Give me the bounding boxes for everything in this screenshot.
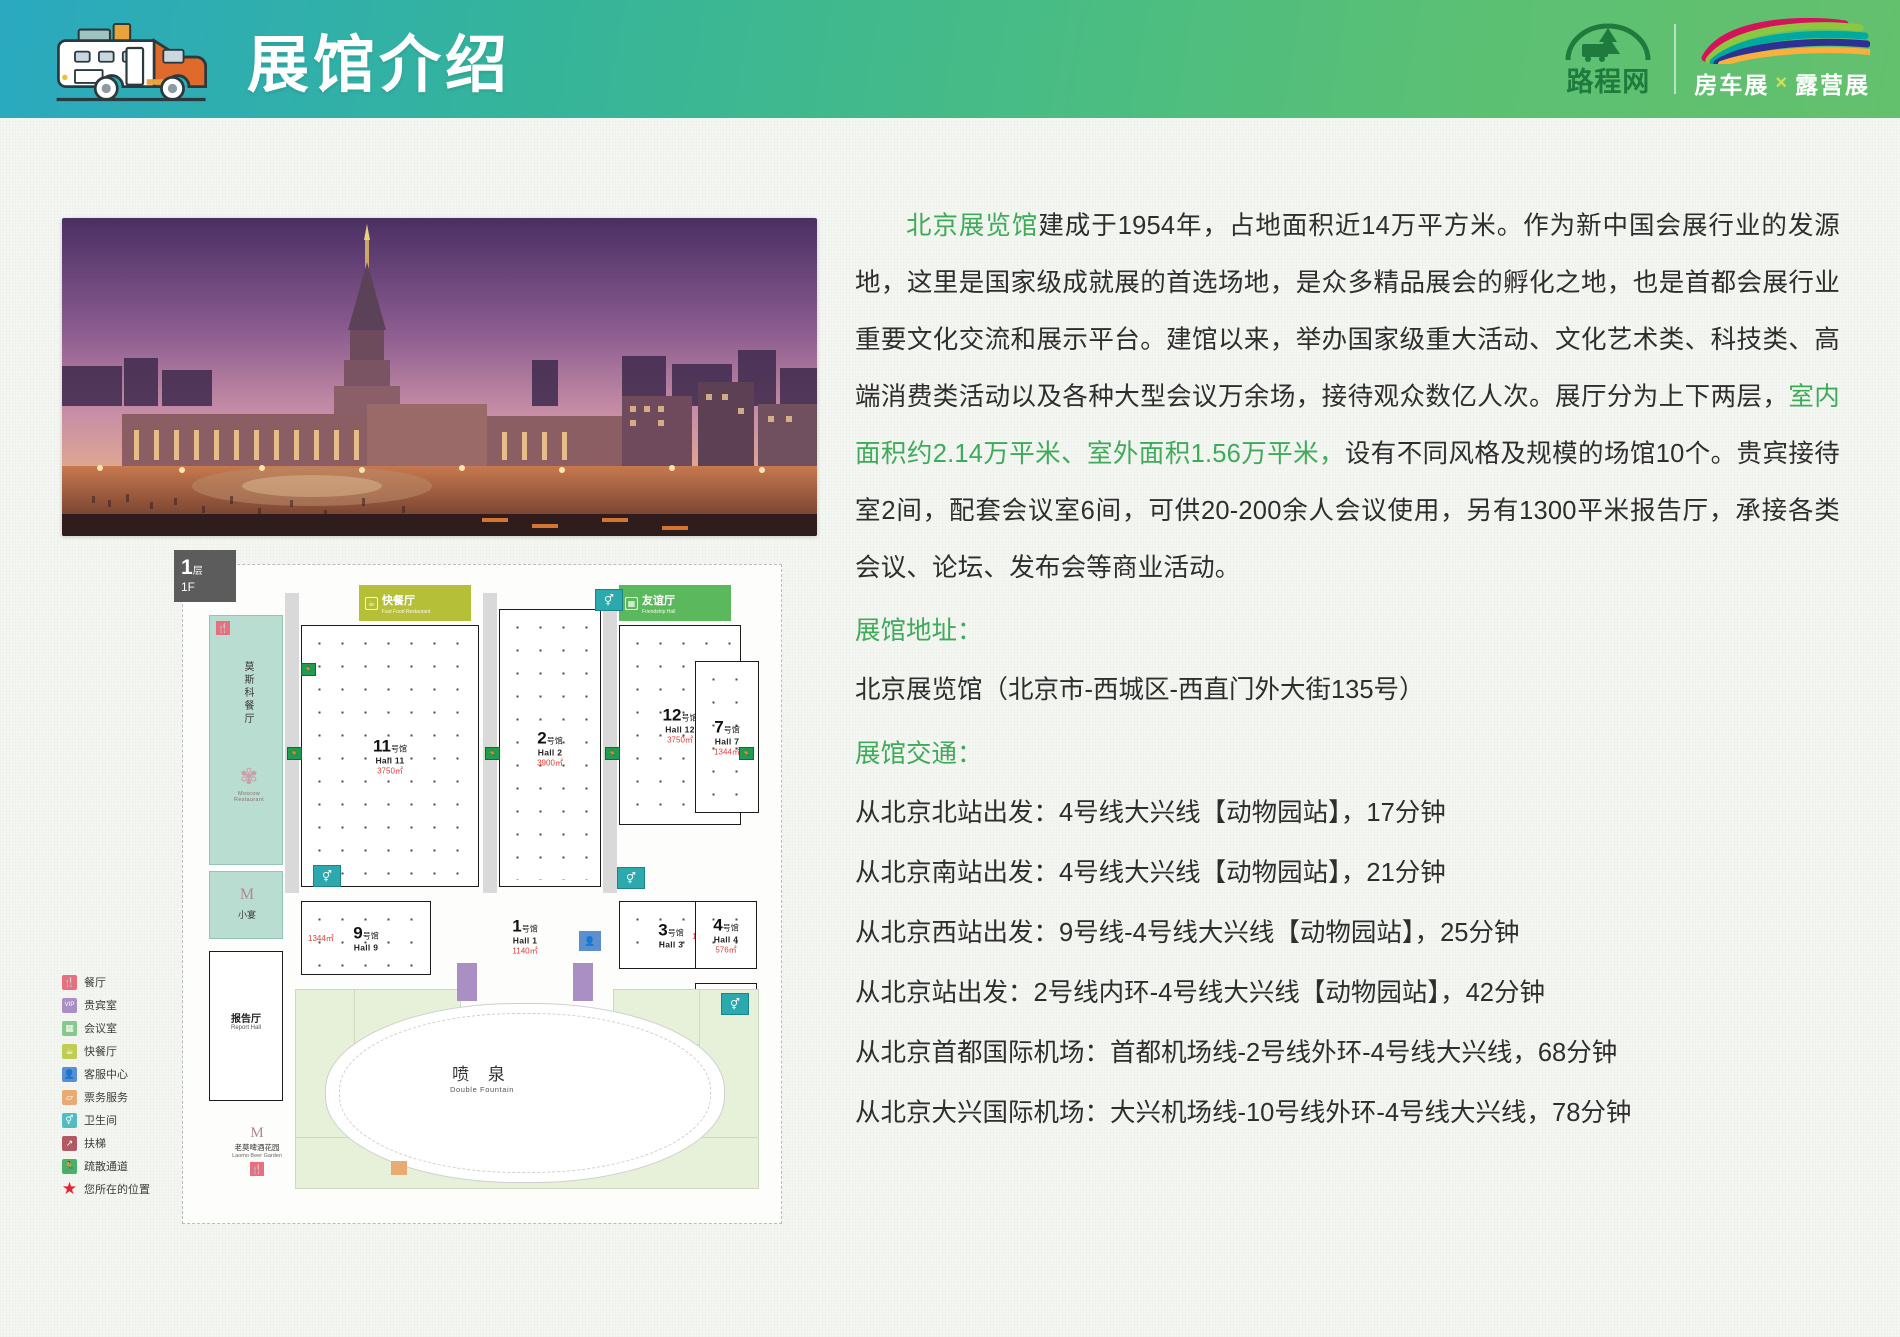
hall-12-num: 12 xyxy=(663,705,682,724)
hall-4-en: Hall 4 xyxy=(696,935,756,945)
legend-label: 贵宾室 xyxy=(84,997,117,1013)
transport-route: 从北京北站出发：4号线大兴线【动物园站】，17分钟 xyxy=(855,783,1840,843)
moscow-restaurant-label-cn: 莫斯科餐厅 xyxy=(240,661,255,726)
legend-label: 客服中心 xyxy=(84,1066,128,1082)
fountain-label-en: Double Fountain xyxy=(183,1085,781,1094)
legend-label: 您所在的位置 xyxy=(84,1181,150,1197)
emergency-exit-icon-3: 🏃 xyxy=(605,747,620,760)
legend-item: ★ 您所在的位置 xyxy=(62,1181,174,1197)
legend-item: 🏃 疏散通道 xyxy=(62,1158,174,1174)
fast-food-icon: ☕ xyxy=(62,1044,77,1059)
expo-label-x: × xyxy=(1775,72,1789,95)
hall-7-en: Hall 7 xyxy=(696,737,758,747)
transport-route: 从北京首都国际机场：首都机场线-2号线外环-4号线大兴线，68分钟 xyxy=(855,1023,1840,1083)
lucheng-logo-text: 路程网 xyxy=(1566,60,1650,99)
escalator-icon: ↗ xyxy=(62,1136,77,1151)
restroom-icon-3: ⚥ xyxy=(617,867,645,889)
corridor-right xyxy=(603,593,617,893)
you-are-here-star-icon: ★ xyxy=(62,1182,77,1197)
moscow-restaurant-area[interactable]: 🍴 莫斯科餐厅 ✾ Moscow Restaurant xyxy=(209,615,283,865)
hall-1-en: Hall 1 xyxy=(474,936,576,946)
floor-plan-map[interactable]: 1层 1F 🍴 莫斯科餐厅 ✾ Moscow Restaurant M 小宴 xyxy=(62,544,817,1224)
legend-label: 疏散通道 xyxy=(84,1158,128,1174)
hall-4-num: 4 xyxy=(713,915,722,934)
legend-item: ▱ 票务服务 xyxy=(62,1089,174,1105)
fast-food-icon: ☕ xyxy=(365,597,378,610)
page-content: 1层 1F 🍴 莫斯科餐厅 ✾ Moscow Restaurant M 小宴 xyxy=(0,118,1900,1337)
hall-1-area: 1140㎡ xyxy=(474,947,576,956)
hall-9[interactable]: 9号馆 Hall 9 1344㎡ xyxy=(301,901,431,975)
legend-label: 快餐厅 xyxy=(84,1043,117,1059)
hall-9-num: 9 xyxy=(353,923,362,942)
venue-description-part2: 建成于1954年，占地面积近14万平方米。作为新中国会展行业的发源地，这里是国家… xyxy=(855,212,1840,411)
venue-name-highlight: 北京展览馆 xyxy=(906,212,1038,240)
ticket-service-icon-map xyxy=(391,1161,407,1175)
tag-fast-food-en: Fast Food Restaurant xyxy=(382,609,430,615)
restroom-icon: ⚥ xyxy=(62,1113,77,1128)
legend-item: 🍴 餐厅 xyxy=(62,974,174,990)
hall-7[interactable]: 7号馆 Hall 7 1344㎡ xyxy=(695,661,759,813)
address-block: 展馆地址： 北京展览馆（北京市-西城区-西直门外大街135号） xyxy=(855,603,1840,720)
fountain-label-cn: 喷 泉 xyxy=(183,1060,781,1085)
hall-1-label: 1号馆 Hall 1 1140㎡ xyxy=(474,916,576,956)
hall-2-num: 2 xyxy=(537,728,546,747)
map-frame: 🍴 莫斯科餐厅 ✾ Moscow Restaurant M 小宴 xyxy=(182,564,782,1224)
hall-11-label: 11号馆 Hall 11 3750㎡ xyxy=(302,736,478,776)
expo-label-left: 房车展 xyxy=(1694,66,1769,100)
hall-11-area: 3750㎡ xyxy=(302,767,478,776)
floor-badge-en: 1F xyxy=(181,580,236,594)
beer-garden-restaurant-badge: 🍴 xyxy=(250,1162,264,1176)
hall-4-label: 4号馆 Hall 4 576㎡ xyxy=(696,915,756,955)
friendship-hall-icon: ▦ xyxy=(625,597,638,610)
corridor-left xyxy=(285,593,299,893)
tag-fast-food-cn: 快餐厅 xyxy=(382,595,415,607)
restroom-icon-4: ⚥ xyxy=(721,993,749,1015)
transport-route: 从北京站出发：2号线内环-4号线大兴线【动物园站】，42分钟 xyxy=(855,963,1840,1023)
moscow-restaurant-label-en: Moscow Restaurant xyxy=(226,791,272,803)
emergency-exit-icon-2: 🏃 xyxy=(485,747,500,760)
transport-block: 展馆交通： 从北京北站出发：4号线大兴线【动物园站】，17分钟 从北京南站出发：… xyxy=(855,726,1840,1143)
legend-label: 卫生间 xyxy=(84,1112,117,1128)
xiaoyan-room-area[interactable]: M 小宴 xyxy=(209,871,283,939)
hall-1[interactable]: 1号馆 Hall 1 1140㎡ xyxy=(473,895,577,977)
right-column: 北京展览馆建成于1954年，占地面积近14万平方米。作为新中国会展行业的发源地，… xyxy=(855,198,1840,1143)
hall-2-en: Hall 2 xyxy=(500,748,600,758)
ticket-service-icon: ▱ xyxy=(62,1090,77,1105)
transport-route: 从北京大兴国际机场：大兴机场线-10号线外环-4号线大兴线，78分钟 xyxy=(855,1083,1840,1143)
address-value: 北京展览馆（北京市-西城区-西直门外大街135号） xyxy=(855,660,1840,720)
transport-route: 从北京西站出发：9号线-4号线大兴线【动物园站】，25分钟 xyxy=(855,903,1840,963)
tag-friendship-en: Friendship Hall xyxy=(642,609,675,615)
hall-9-suffix: 号馆 xyxy=(363,931,379,940)
hall-9-en: Hall 9 xyxy=(302,943,430,953)
tag-friendship-hall[interactable]: ▦ 友谊厅 Friendship Hall xyxy=(619,585,731,621)
venue-description: 北京展览馆建成于1954年，占地面积近14万平方米。作为新中国会展行业的发源地，… xyxy=(855,198,1840,597)
corridor-mid xyxy=(483,593,497,893)
legend-item: 👤 客服中心 xyxy=(62,1066,174,1082)
legend-label: 扶梯 xyxy=(84,1135,106,1151)
meeting-room-icon: ▦ xyxy=(62,1021,77,1036)
expo-logo: 房车展 × 露营展 xyxy=(1694,18,1870,100)
hall-9-area: 1344㎡ xyxy=(308,933,334,944)
transport-route: 从北京南站出发：4号线大兴线【动物园站】，21分钟 xyxy=(855,843,1840,903)
hall-11-suffix: 号馆 xyxy=(391,744,407,753)
emergency-exit-icon: 🏃 xyxy=(62,1159,77,1174)
legend-label: 会议室 xyxy=(84,1020,117,1036)
map-legend: 🍴 餐厅 VIP 贵宾室 ▦ 会议室 ☕ 快餐厅 👤 客服中心 xyxy=(62,974,174,1204)
customer-service-icon-map: 👤 xyxy=(579,931,601,951)
hall-2[interactable]: 2号馆 Hall 2 3900㎡ xyxy=(499,609,601,887)
expo-logo-text: 房车展 × 露营展 xyxy=(1694,66,1870,100)
legend-item: VIP 贵宾室 xyxy=(62,997,174,1013)
legend-item: ⚥ 卫生间 xyxy=(62,1112,174,1128)
transport-heading: 展馆交通： xyxy=(855,726,1840,783)
escalator-icon-left xyxy=(457,963,477,1001)
hall-11-num: 11 xyxy=(373,736,391,755)
hall-7-num: 7 xyxy=(714,717,723,736)
rv-camper-icon xyxy=(34,13,219,105)
legend-item: ▦ 会议室 xyxy=(62,1020,174,1036)
emergency-exit-icon-1: 🏃 xyxy=(287,747,302,760)
lucheng-logo: 路程网 xyxy=(1560,20,1656,99)
hall-1-suffix: 号馆 xyxy=(522,924,538,933)
hall-4-suffix: 号馆 xyxy=(723,923,739,932)
page-header: 展馆介绍 路程网 房车展 × 露营展 xyxy=(0,0,1900,118)
tag-friendship-cn: 友谊厅 xyxy=(642,595,675,607)
beer-garden-label: M 老莫啤酒花园 Laomo Beer Garden 🍴 xyxy=(209,1125,305,1173)
hall-2-label: 2号馆 Hall 2 3900㎡ xyxy=(500,728,600,768)
legend-item: ↗ 扶梯 xyxy=(62,1135,174,1151)
hall-3-num: 3 xyxy=(658,920,667,939)
hall-2-area: 3900㎡ xyxy=(500,759,600,768)
legend-label: 票务服务 xyxy=(84,1089,128,1105)
venue-photo xyxy=(62,218,817,536)
legend-label: 餐厅 xyxy=(84,974,106,990)
report-hall-en: Report Hall xyxy=(210,1025,282,1031)
address-heading: 展馆地址： xyxy=(855,603,1840,660)
restaurant-badge: 🍴 xyxy=(216,621,230,635)
hall-2-suffix: 号馆 xyxy=(547,736,563,745)
hall-11[interactable]: 11号馆 Hall 11 3750㎡ xyxy=(301,625,479,887)
beer-garden-en: Laomo Beer Garden xyxy=(209,1153,305,1159)
restroom-icon-1: ⚥ xyxy=(313,865,341,887)
escalator-icon-right xyxy=(573,963,593,1001)
page-title: 展馆介绍 xyxy=(247,14,511,104)
legend-item: ☕ 快餐厅 xyxy=(62,1043,174,1059)
xiaoyan-label: 小宴 xyxy=(224,908,270,921)
customer-service-icon: 👤 xyxy=(62,1067,77,1082)
left-column: 1层 1F 🍴 莫斯科餐厅 ✾ Moscow Restaurant M 小宴 xyxy=(62,218,822,1224)
floor-badge-num: 1 xyxy=(181,556,193,579)
floor-badge-unit: 层 xyxy=(193,566,203,577)
expo-label-right: 露营展 xyxy=(1795,66,1870,100)
report-hall-cn: 报告厅 xyxy=(210,1010,282,1025)
restroom-icon-2: ⚥ xyxy=(595,589,623,611)
tag-fast-food-restaurant[interactable]: ☕ 快餐厅 Fast Food Restaurant xyxy=(359,585,471,621)
hall-3-suffix: 号馆 xyxy=(668,928,684,937)
vip-room-icon: VIP xyxy=(62,998,77,1013)
header-logos: 路程网 房车展 × 露营展 xyxy=(1560,18,1870,100)
restaurant-icon: 🍴 xyxy=(62,975,77,990)
hall-11-en: Hall 11 xyxy=(302,756,478,766)
hall-1-num: 1 xyxy=(512,916,521,935)
hall-7-suffix: 号馆 xyxy=(724,725,740,734)
floor-badge: 1层 1F xyxy=(174,550,236,602)
logo-divider xyxy=(1674,24,1676,94)
hall-4-area: 576㎡ xyxy=(696,946,756,955)
fountain-label: 喷 泉 Double Fountain xyxy=(183,1060,781,1094)
beer-garden-cn: 老莫啤酒花园 xyxy=(209,1142,305,1153)
emergency-exit-icon-5: 🏃 xyxy=(739,747,754,760)
emergency-exit-icon-4: 🏃 xyxy=(301,663,316,676)
hall-4[interactable]: 4号馆 Hall 4 576㎡ xyxy=(695,901,757,969)
